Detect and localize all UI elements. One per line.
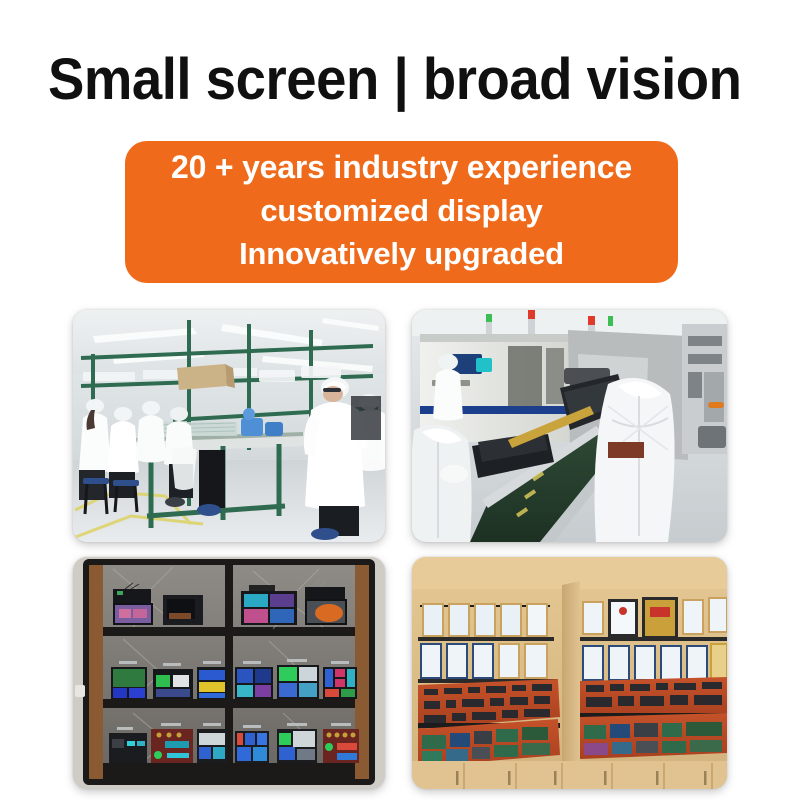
banner-line-2: customized display — [260, 189, 542, 232]
banner-line-1: 20 + years industry experience — [171, 146, 632, 189]
photo-assembly-line — [73, 310, 385, 542]
photo-smt-production-line — [412, 310, 727, 542]
photo-showroom — [412, 557, 727, 789]
photo-gallery — [73, 310, 727, 788]
photo-display-cabinet — [73, 557, 385, 789]
page-title: Small screen | broad vision — [48, 50, 715, 110]
poster-root: Small screen | broad vision 20 + years i… — [0, 0, 800, 800]
banner-line-3: Innovatively upgraded — [239, 232, 564, 275]
highlight-banner: 20 + years industry experience customize… — [125, 141, 678, 283]
